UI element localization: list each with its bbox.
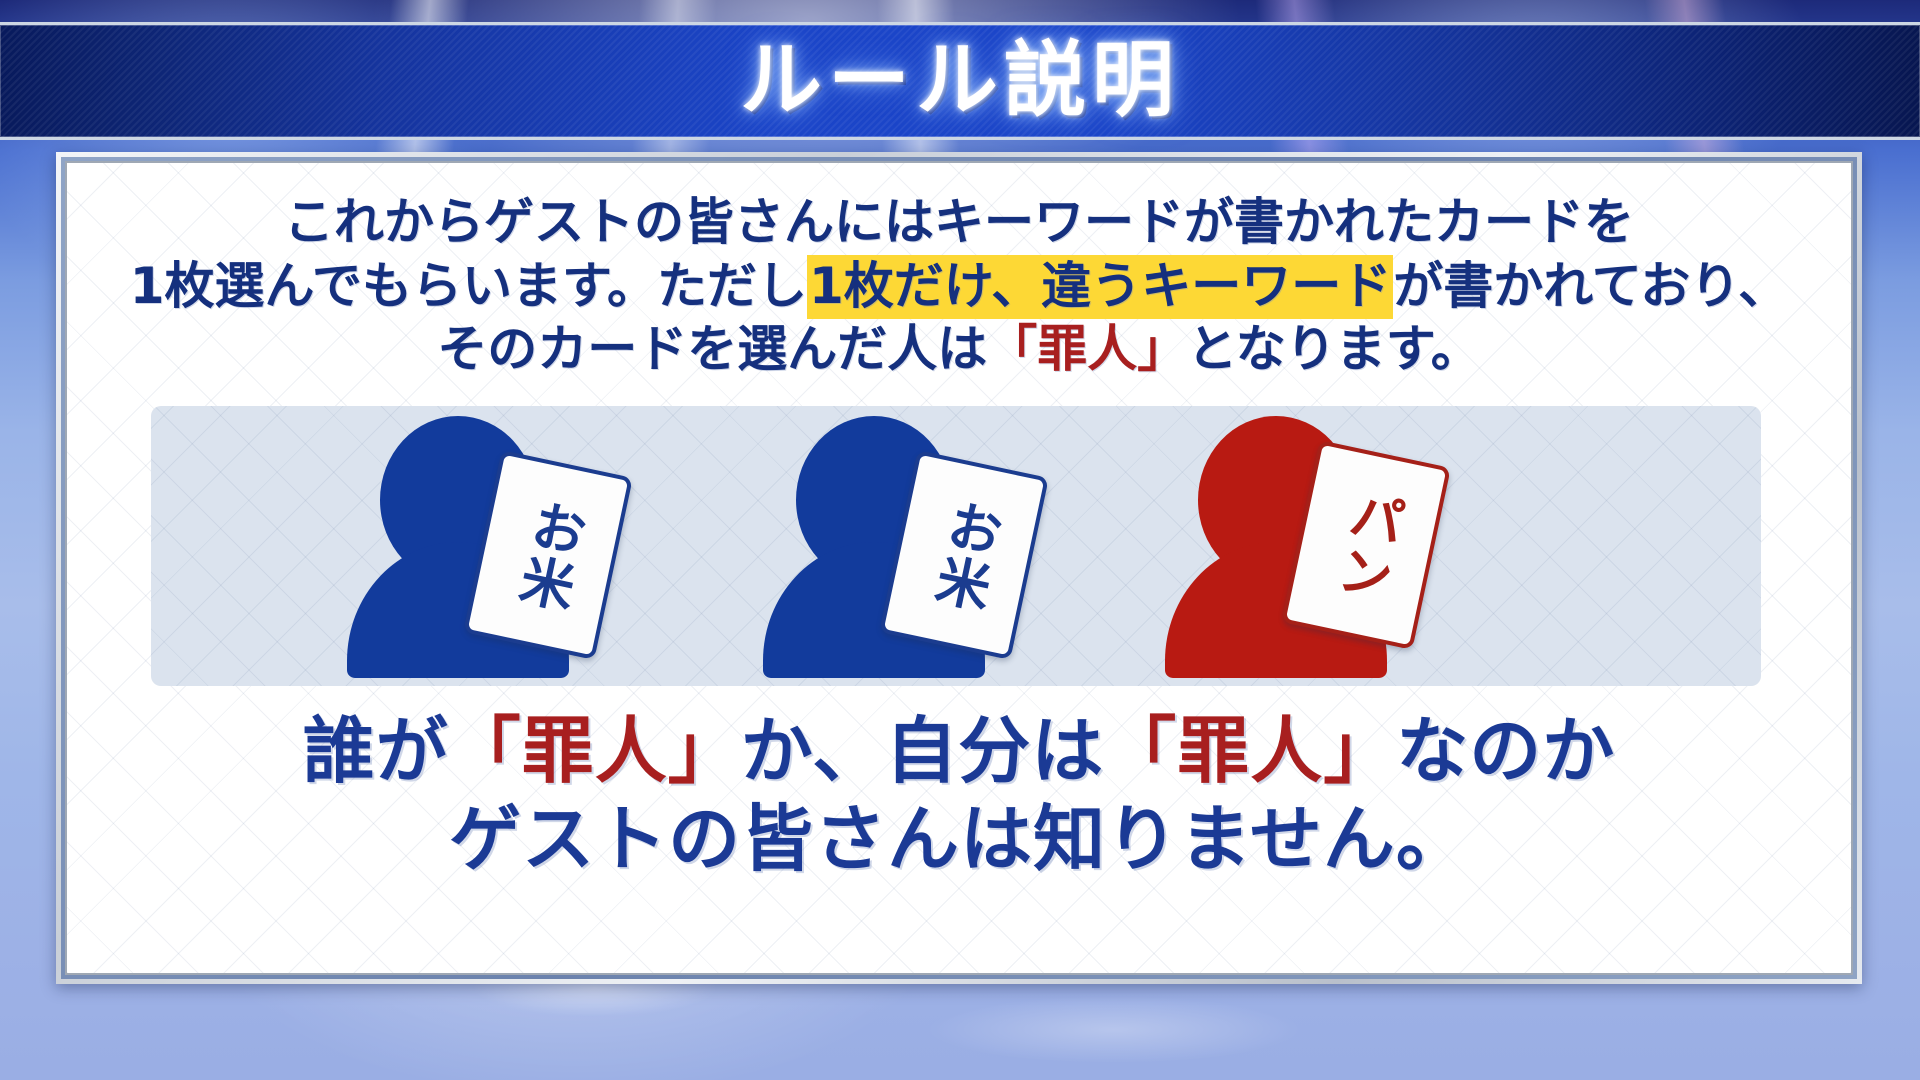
rule-conclusion: 誰が「罪人」か、自分は「罪人」なのか ゲストの皆さんは知りません。 xyxy=(67,708,1851,884)
rule-line2-segment-c: が書かれており、 xyxy=(1393,257,1788,315)
rule-conclusion-line-1: 誰が「罪人」か、自分は「罪人」なのか xyxy=(67,708,1851,796)
figure-group-1: お米 xyxy=(263,406,693,686)
conclusion-line1-segment-a: 誰が xyxy=(303,709,449,793)
rule-description-line-1: これからゲストの皆さんにはキーワードが書かれたカードを xyxy=(67,191,1851,255)
conclusion-line2-segment: ゲストの皆さんは知りません。 xyxy=(449,797,1469,881)
figure-group-2: お米 xyxy=(679,406,1109,686)
keyword-card-1-text: お米 xyxy=(509,494,587,615)
conclusion-line1-segment-c: か、自分は xyxy=(741,709,1105,793)
conclusion-line1-segment-e: なのか xyxy=(1396,709,1615,793)
content-panel-frame-inner: これからゲストの皆さんにはキーワードが書かれたカードを 1枚選んでもらいます。た… xyxy=(61,157,1857,979)
keyword-card-3-text: パン xyxy=(1327,484,1405,605)
page-title: ルール説明 xyxy=(740,40,1180,122)
rule-conclusion-line-2: ゲストの皆さんは知りません。 xyxy=(67,796,1851,884)
conclusion-line1-culprit-term-1: 「罪人」 xyxy=(449,709,741,793)
rule-line3-segment-a: そのカードを選んだ人は xyxy=(437,320,987,378)
rule-description: これからゲストの皆さんにはキーワードが書かれたカードを 1枚選んでもらいます。た… xyxy=(67,191,1851,382)
title-banner: ルール説明 xyxy=(0,22,1920,140)
rule-line2-highlight: 1枚だけ、違うキーワード xyxy=(807,255,1393,319)
conclusion-line1-culprit-term-2: 「罪人」 xyxy=(1104,709,1396,793)
rule-line3-culprit-term: 「罪人」 xyxy=(987,320,1187,378)
illustration-band: お米 お米 xyxy=(151,406,1761,686)
rule-line3-segment-c: となります。 xyxy=(1187,320,1481,378)
figure-group-3: パン xyxy=(1081,406,1511,686)
rule-description-line-2: 1枚選んでもらいます。ただし1枚だけ、違うキーワードが書かれており、 xyxy=(67,255,1851,319)
content-panel-frame-outer: これからゲストの皆さんにはキーワードが書かれたカードを 1枚選んでもらいます。た… xyxy=(56,152,1862,984)
content-panel: これからゲストの皆さんにはキーワードが書かれたカードを 1枚選んでもらいます。た… xyxy=(65,161,1853,975)
keyword-card-2-text: お米 xyxy=(925,494,1003,615)
rule-description-line-3: そのカードを選んだ人は「罪人」となります。 xyxy=(67,318,1851,382)
rule-line2-segment-a: 1枚選んでもらいます。ただし xyxy=(130,257,807,315)
rule-line1-segment: これからゲストの皆さんにはキーワードが書かれたカードを xyxy=(284,193,1634,251)
slide-stage: ルール説明 これからゲストの皆さんにはキーワードが書かれたカードを 1枚選んでも… xyxy=(0,0,1920,1080)
